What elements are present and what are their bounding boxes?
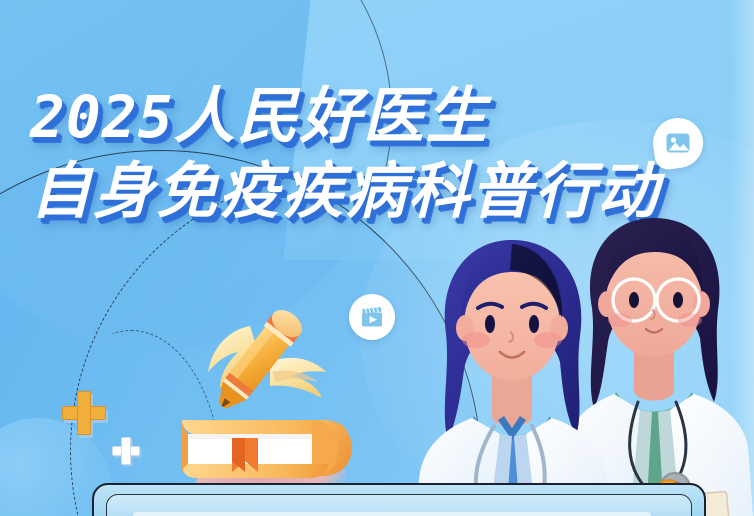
female-doctor-left: [412, 224, 612, 516]
campaign-poster: 2025人民好医生 自身免疫疾病科普行动: [0, 0, 754, 516]
headline-line-1: 2025人民好医生: [30, 83, 730, 150]
tablet-device-highlight: [133, 512, 651, 516]
doctors-illustration: [412, 196, 754, 516]
tablet-device-bar: [92, 483, 706, 516]
headline-year: 2025: [30, 83, 174, 151]
image-icon: [664, 129, 692, 157]
clapperboard-icon: [359, 304, 385, 330]
book-icon: [176, 412, 358, 484]
plus-icon-white: [112, 437, 140, 465]
headline-line-1-text: 人民好医生: [174, 82, 489, 150]
tablet-device-screen: [106, 494, 692, 516]
plus-icon-orange: [62, 391, 106, 435]
video-badge[interactable]: [349, 294, 395, 340]
